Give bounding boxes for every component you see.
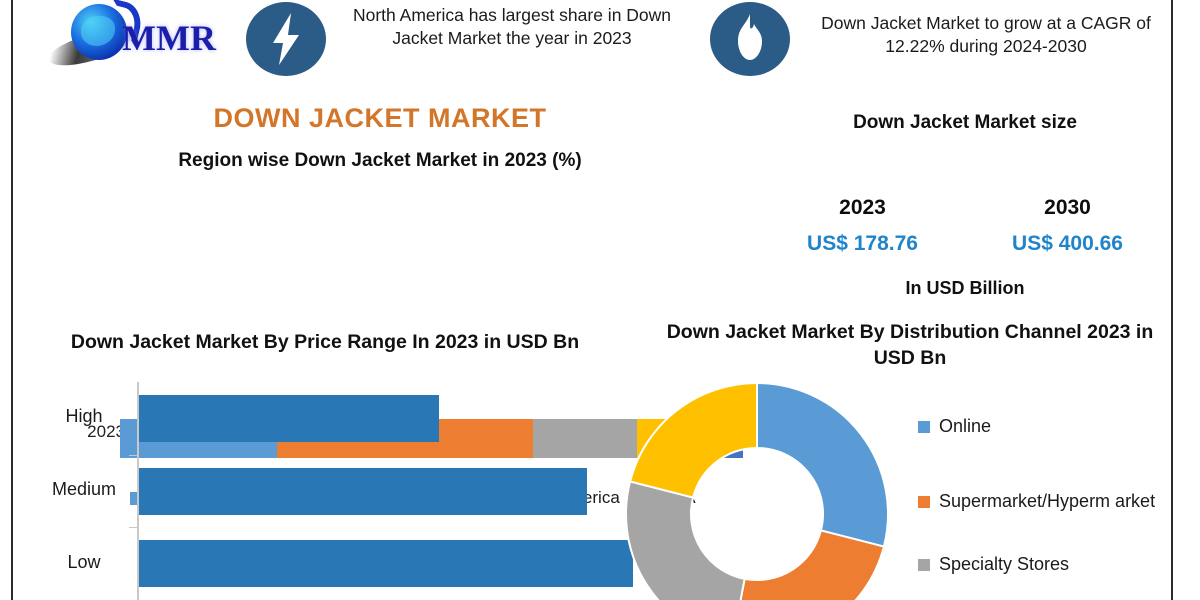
price-range-axis-tick — [129, 455, 138, 456]
price-range-label-high: High — [40, 406, 128, 427]
donut-slice-supermarket-hypermarket — [732, 530, 883, 600]
donut-legend-label: Supermarket/Hyperm arket — [939, 490, 1155, 513]
market-size-year-2030: 2030 — [965, 196, 1170, 220]
price-range-label-low: Low — [40, 552, 128, 573]
lightning-bolt-icon — [246, 2, 326, 76]
flame-icon — [710, 2, 790, 76]
price-range-bar-low — [139, 540, 633, 587]
donut-legend-item-supermarket-hyperm-arket: Supermarket/Hyperm arket — [918, 490, 1155, 513]
price-range-chart: HighMediumLow — [40, 382, 640, 600]
distribution-donut-chart — [626, 383, 888, 600]
donut-legend-label: Online — [939, 415, 991, 438]
stat-cagr-text: Down Jacket Market to grow at a CAGR of … — [802, 12, 1170, 59]
market-size-values: 2023 US$ 178.76 2030 US$ 400.66 — [760, 196, 1170, 256]
market-size-value-2023: US$ 178.76 — [760, 232, 965, 256]
price-range-axis-tick — [129, 527, 138, 528]
price-range-bar-medium — [139, 468, 587, 515]
price-range-bar-high — [139, 395, 439, 442]
price-range-label-medium: Medium — [40, 479, 128, 500]
region-chart-title: Region wise Down Jacket Market in 2023 (… — [13, 150, 747, 172]
frame-right-border — [1171, 0, 1173, 600]
donut-legend-item-specialty-stores: Specialty Stores — [918, 553, 1069, 576]
stat-north-america-share: North America has largest share in Down … — [246, 0, 686, 92]
donut-slice-online — [757, 383, 888, 547]
market-size-col-2030: 2030 US$ 400.66 — [965, 196, 1170, 256]
donut-legend-label: Specialty Stores — [939, 553, 1069, 576]
infographic-page: MMR North America has largest share in D… — [0, 0, 1200, 600]
donut-legend-item-online: Online — [918, 415, 991, 438]
market-size-title: Down Jacket Market size — [760, 112, 1170, 134]
logo-wordmark: MMR — [122, 17, 216, 59]
mmr-logo: MMR — [43, 2, 248, 64]
donut-slice-specialty-stores — [626, 481, 745, 600]
stat-north-america-share-text: North America has largest share in Down … — [338, 4, 686, 51]
donut-legend-swatch-icon — [918, 421, 930, 433]
distribution-chart-title: Down Jacket Market By Distribution Chann… — [650, 320, 1170, 371]
header-bar: MMR North America has largest share in D… — [13, 0, 1171, 92]
donut-legend-swatch-icon — [918, 559, 930, 571]
price-range-chart-title: Down Jacket Market By Price Range In 202… — [40, 330, 610, 355]
market-size-year-2023: 2023 — [760, 196, 965, 220]
region-share-chart: 2023 North AmericaAsia PacificEuropeLati… — [13, 200, 747, 315]
market-size-col-2023: 2023 US$ 178.76 — [760, 196, 965, 256]
donut-slice-other-3 — [630, 383, 757, 498]
page-title: DOWN JACKET MARKET — [13, 103, 747, 134]
stat-cagr: Down Jacket Market to grow at a CAGR of … — [710, 0, 1170, 92]
market-size-unit: In USD Billion — [760, 278, 1170, 299]
donut-legend-swatch-icon — [918, 496, 930, 508]
market-size-value-2030: US$ 400.66 — [965, 232, 1170, 256]
